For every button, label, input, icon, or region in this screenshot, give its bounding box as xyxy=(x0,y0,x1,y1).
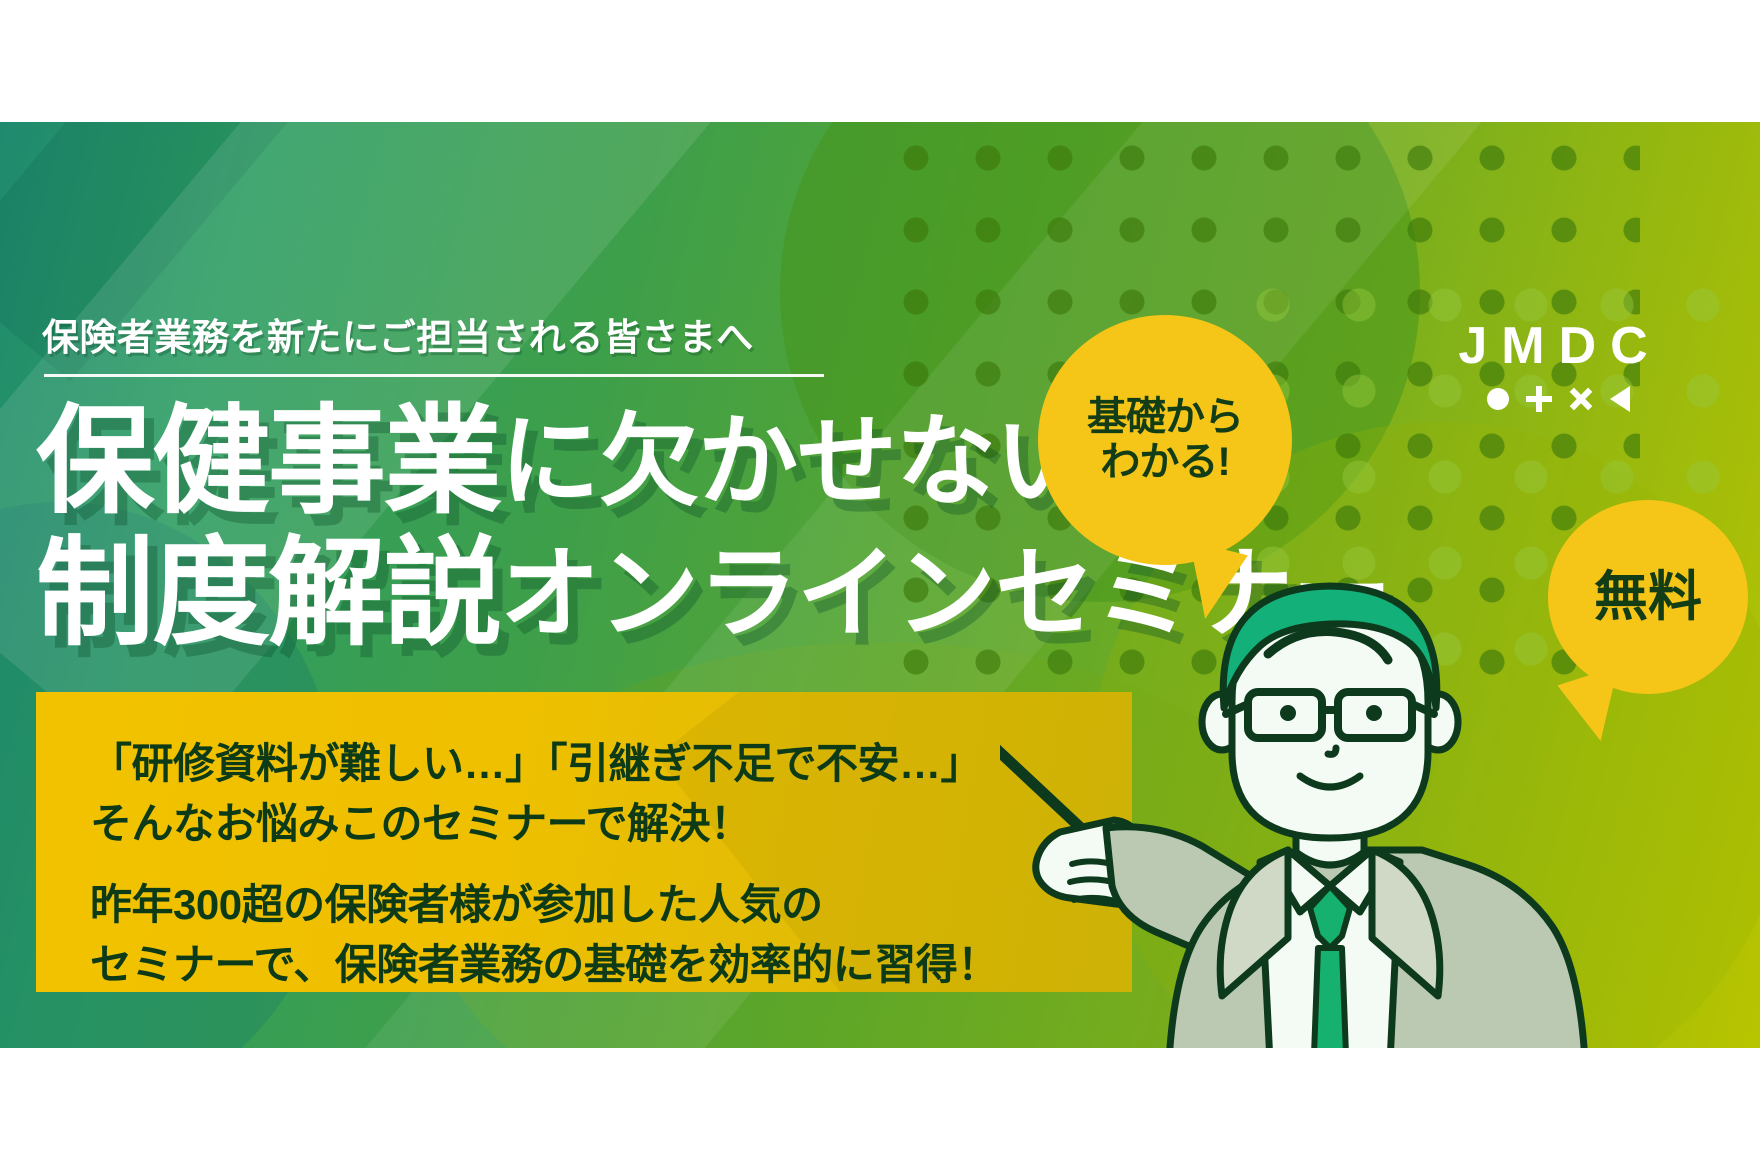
kiso-badge-line-2: わかる! xyxy=(1100,440,1229,485)
eyebrow-divider xyxy=(44,374,824,377)
cross-mark-icon xyxy=(1569,387,1593,411)
info-box-line-2: そんなお悩みこのセミナーで解決！ xyxy=(90,794,1132,854)
kiso-badge: 基礎から わかる! xyxy=(1038,315,1292,565)
banner-eyebrow-text: 保険者業務を新たにご担当される皆さまへ xyxy=(42,307,942,361)
headline-line1-rest: に欠かせない xyxy=(500,406,1094,518)
info-box-text: 「研修資料が難しい…」「引継ぎ不足で不安…」 そんなお悩みこのセミナーで解決！ … xyxy=(36,692,1132,992)
kiso-badge-line-1: 基礎から xyxy=(1087,395,1243,440)
screenshot-root: 保険者業務を新たにご担当される皆さまへ 保健事業に欠かせない 制度解説オンライン… xyxy=(0,0,1760,1170)
jmdc-wordmark: JMDC xyxy=(1430,320,1676,372)
plus-mark-icon xyxy=(1526,386,1552,412)
highlight-info-box: 「研修資料が難しい…」「引継ぎ不足で不安…」 そんなお悩みこのセミナーで解決！ … xyxy=(36,692,1132,992)
jmdc-logo: JMDC xyxy=(1430,320,1676,412)
jmdc-logo-marks xyxy=(1430,386,1676,412)
circle-mark-icon xyxy=(1487,388,1509,410)
headline-line2-emphasis: 制度解説 xyxy=(36,528,500,660)
info-box-line-3: 昨年300超の保険者様が参加した人気の xyxy=(90,875,1132,935)
info-box-line-1: 「研修資料が難しい…」「引継ぎ不足で不安…」 xyxy=(90,734,1132,794)
headline-line1-emphasis: 保健事業 xyxy=(36,396,500,528)
triangle-mark-icon xyxy=(1610,386,1630,412)
seminar-banner: 保険者業務を新たにご担当される皆さまへ 保健事業に欠かせない 制度解説オンライン… xyxy=(0,122,1760,1048)
info-box-line-4: セミナーで、保険者業務の基礎を効率的に習得！ xyxy=(90,935,1132,992)
